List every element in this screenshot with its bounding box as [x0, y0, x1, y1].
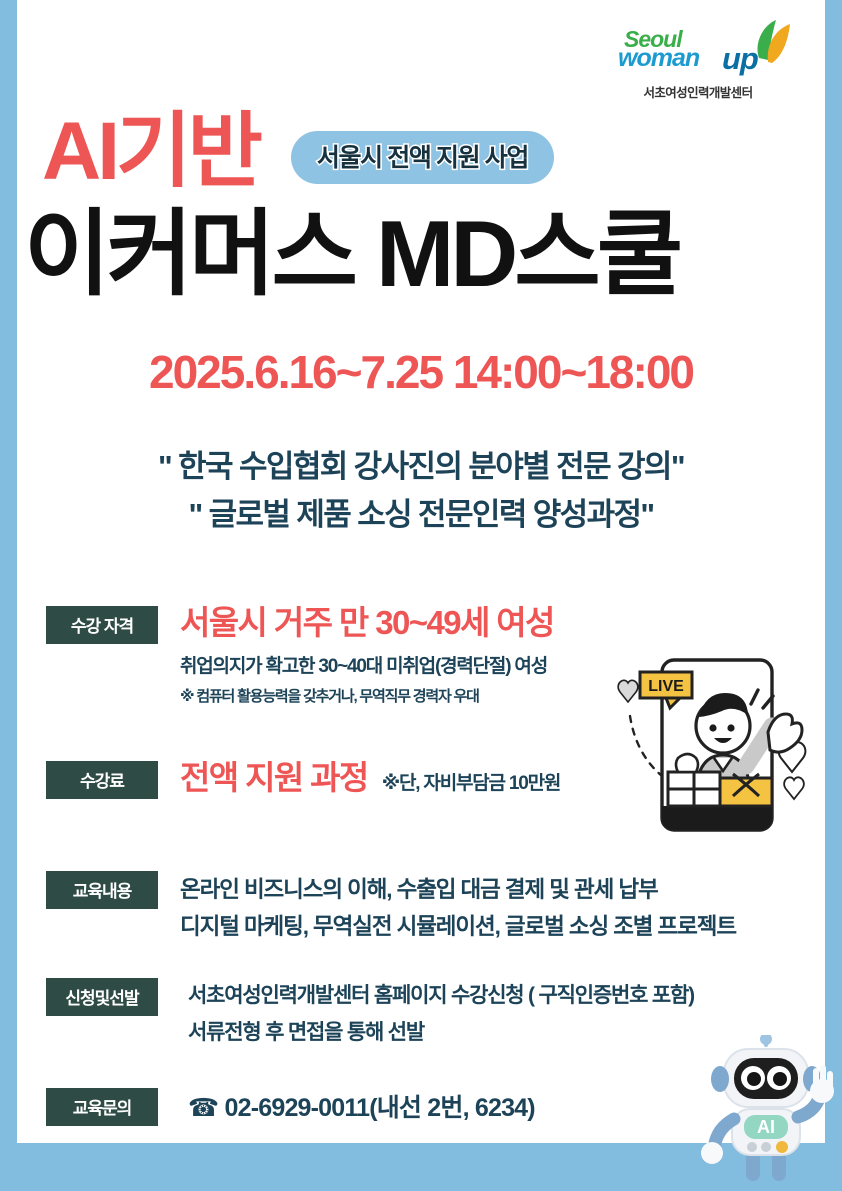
phone-bottom-bar [662, 806, 772, 830]
heart-icon-small [618, 680, 638, 702]
logo-woman-text: woman [618, 44, 699, 73]
robot-button-1 [747, 1142, 757, 1152]
logo-subtitle: 서초여성인력개발센터 [600, 82, 796, 101]
ai-robot-mascot: AI [690, 1035, 842, 1191]
row-application: 신청및선발 서초여성인력개발센터 홈페이지 수강신청 ( 구직인증번호 포함) … [46, 978, 796, 1052]
live-streaming-illustration: LIVE [600, 648, 820, 853]
inquiry-phone-number: 02-6929-0011(내선 2번, 6234) [225, 1094, 535, 1122]
dashed-trail [630, 716, 662, 776]
poster-root: Seoul woman up 서초여성인력개발센터 AI기반 서울시 전액 지원… [0, 0, 842, 1191]
support-badge: 서울시 전액 지원 사업 [291, 131, 554, 184]
logo-wordmark: Seoul woman up [600, 24, 796, 76]
curriculum-body: 온라인 비즈니스의 이해, 수출입 대금 결제 및 관세 납부 디지털 마케팅,… [158, 871, 796, 945]
gift-box-yellow [720, 778, 772, 806]
fee-headline: 전액 지원 과정 [180, 761, 368, 796]
application-line-1: 서초여성인력개발센터 홈페이지 수강신청 ( 구직인증번호 포함) [188, 978, 796, 1015]
robot-button-2 [761, 1142, 771, 1152]
robot-pupil-right [773, 1072, 787, 1086]
headline-row: AI기반 서울시 전액 지원 사업 [42, 112, 554, 192]
organization-logo: Seoul woman up 서초여성인력개발센터 [600, 24, 796, 101]
robot-antenna-tip [760, 1035, 772, 1045]
title-ai-prefix: AI기반 [42, 112, 259, 192]
person-hand-left [676, 754, 698, 772]
tag-fee: 수강료 [46, 761, 158, 799]
fee-note: ※단, 자비부담금 10만원 [382, 768, 560, 795]
person-eye-right [727, 724, 734, 731]
quote-line-2: " 글로벌 제품 소싱 전문인력 양성과정" [0, 491, 842, 539]
heart-icon-medium [784, 777, 804, 799]
row-curriculum: 교육내용 온라인 비즈니스의 이해, 수출입 대금 결제 및 관세 납부 디지털… [46, 871, 796, 945]
robot-ear-left [711, 1066, 729, 1092]
row-inquiry: 교육문의 ☎ 02-6929-0011(내선 2번, 6234) [46, 1088, 796, 1126]
eligibility-headline: 서울시 거주 만 30~49세 여성 [180, 606, 796, 641]
tag-application: 신청및선발 [46, 978, 158, 1016]
robot-chest-label: AI [757, 1117, 775, 1137]
person-eye-left [709, 724, 716, 731]
curriculum-line-2: 디지털 마케팅, 무역실전 시뮬레이션, 글로벌 소싱 조별 프로젝트 [180, 908, 796, 945]
robot-fingers [816, 1068, 830, 1085]
page-title: 이커머스 MD스쿨 [24, 205, 679, 304]
telephone-icon: ☎ [188, 1094, 218, 1122]
robot-hand-left [701, 1142, 723, 1164]
schedule-date: 2025.6.16~7.25 14:00~18:00 [0, 345, 842, 399]
robot-pupil-left [747, 1072, 761, 1086]
tag-inquiry: 교육문의 [46, 1088, 158, 1126]
tag-curriculum: 교육내용 [46, 871, 158, 909]
quote-block: " 한국 수입협회 강사진의 분야별 전문 강의" " 글로벌 제품 소싱 전문… [0, 443, 842, 539]
leaf-icon [752, 18, 792, 64]
curriculum-line-1: 온라인 비즈니스의 이해, 수출입 대금 결제 및 관세 납부 [180, 871, 796, 908]
quote-line-1: " 한국 수입협회 강사진의 분야별 전문 강의" [0, 443, 842, 491]
live-badge-text: LIVE [648, 678, 684, 695]
robot-button-3 [776, 1141, 788, 1153]
tag-eligibility: 수강 자격 [46, 606, 158, 644]
